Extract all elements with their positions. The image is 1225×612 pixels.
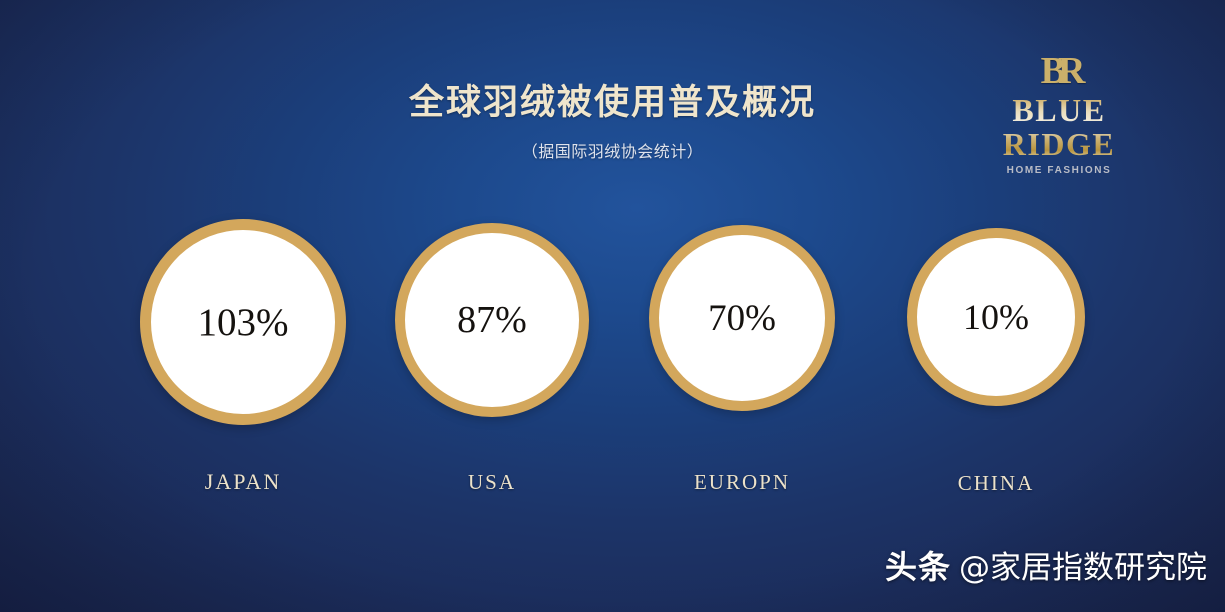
- stat-label: CHINA: [384, 471, 1225, 496]
- stat-value: 87%: [457, 301, 527, 339]
- brand-monogram-icon: BR: [959, 52, 1159, 90]
- stat-circle: 10%: [907, 228, 1085, 406]
- stat-item: 87%: [395, 223, 589, 417]
- stat-item: 103%: [140, 219, 346, 425]
- watermark-brand: 头条: [885, 542, 951, 588]
- infographic-slide: 全球羽绒被使用普及概况 （据国际羽绒协会统计） BR BLUE RIDGE HO…: [0, 0, 1225, 612]
- stat-item: 10%: [907, 228, 1085, 406]
- brand-wordmark: BLUE RIDGE: [959, 94, 1159, 161]
- brand-tagline: HOME FASHIONS: [959, 165, 1159, 176]
- stat-item: 70%: [649, 225, 835, 411]
- brand-logo: BR BLUE RIDGE HOME FASHIONS: [959, 52, 1159, 176]
- stat-value: 103%: [198, 303, 289, 342]
- stat-circle: 87%: [395, 223, 589, 417]
- stat-value: 10%: [963, 299, 1029, 335]
- watermark: 头条 @家居指数研究院: [885, 542, 1207, 588]
- stat-value: 70%: [708, 300, 776, 337]
- watermark-handle: @家居指数研究院: [959, 542, 1207, 587]
- stat-circle: 103%: [140, 219, 346, 425]
- stat-circle: 70%: [649, 225, 835, 411]
